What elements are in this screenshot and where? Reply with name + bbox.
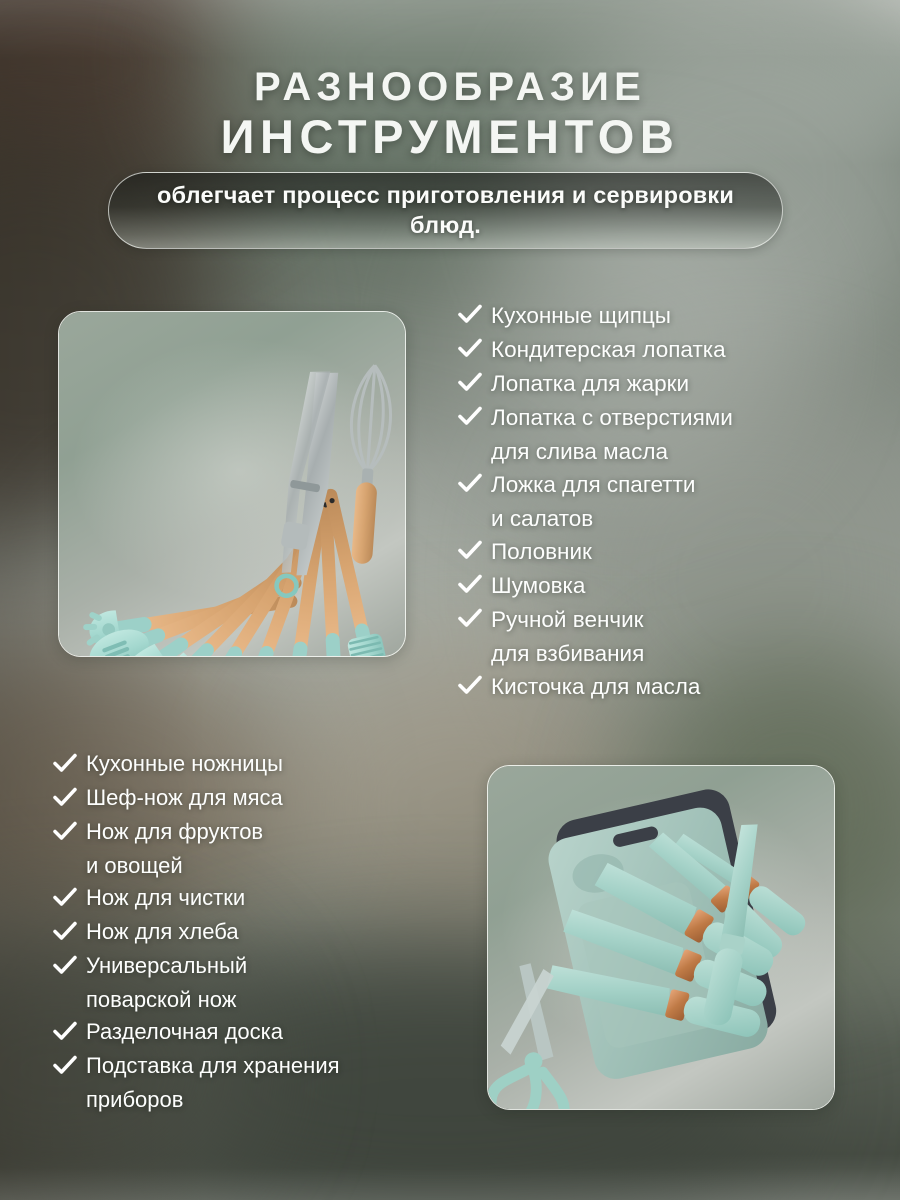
list-item-label: Подставка для хранения [86,1050,340,1082]
check-icon [457,571,483,601]
knife-set-illustration [488,766,834,1109]
list-item-label-line2: поварской нож [86,984,236,1016]
list-item-label: Разделочная доска [86,1016,283,1048]
list-item-continuation: и салатов [457,502,857,535]
list-item[interactable]: Разделочная доска [52,1016,452,1048]
list-item[interactable]: Шумовка [457,569,857,602]
check-icon [457,301,483,331]
list-item[interactable]: Универсальный [52,950,452,982]
list-item-label: Нож для чистки [86,882,245,914]
list-item-continuation: приборов [52,1084,452,1116]
check-icon [52,750,78,780]
check-icon [52,818,78,848]
list-item-label-line2: приборов [86,1084,183,1116]
title-line-1: РАЗНООБРАЗИЕ [0,67,900,109]
list-item-label: Половник [491,535,592,568]
list-item-label: Лопатка для жарки [491,367,689,400]
check-icon [457,403,483,433]
list-item[interactable]: Ручной венчик [457,603,857,636]
list-item-label: Универсальный [86,950,247,982]
check-icon [457,672,483,702]
check-icon [457,470,483,500]
list-item[interactable]: Лопатка с отверстиями [457,401,857,434]
subtitle-banner: облегчает процесс приготовления и сервир… [108,172,783,249]
list-item-label-line2: для взбивания [491,637,644,670]
list-item[interactable]: Нож для чистки [52,882,452,914]
check-icon [457,335,483,365]
check-icon [457,605,483,635]
check-icon [457,537,483,567]
list-item[interactable]: Половник [457,535,857,568]
title-line-2: ИНСТРУМЕНТОВ [0,113,900,162]
list-item-continuation: для слива масла [457,435,857,468]
utensil-set-photo-card [58,311,406,657]
check-icon [52,884,78,914]
list-item[interactable]: Кисточка для масла [457,670,857,703]
list-item-label-line2: и салатов [491,502,593,535]
utensil-set-illustration [59,312,405,656]
list-item-label: Лопатка с отверстиями [491,401,733,434]
list-item-label: Нож для фруктов [86,816,263,848]
list-item[interactable]: Кухонные щипцы [457,299,857,332]
list-item-label: Шумовка [491,569,585,602]
check-icon [52,952,78,982]
list-item-label: Кисточка для масла [491,670,700,703]
utensils-feature-list: Кухонные щипцы Кондитерская лопатка Лопа… [457,299,857,704]
list-item-label-line2: и овощей [86,850,183,882]
check-icon [52,784,78,814]
list-item[interactable]: Кондитерская лопатка [457,333,857,366]
list-item-label-line2: для слива масла [491,435,668,468]
list-item-label: Нож для хлеба [86,916,239,948]
list-item-continuation: поварской нож [52,984,452,1016]
list-item-label: Кухонные щипцы [491,299,671,332]
list-item-label: Кухонные ножницы [86,748,283,780]
list-item-label: Шеф-нож для мяса [86,782,283,814]
check-icon [52,1052,78,1082]
product-infographic-poster: РАЗНООБРАЗИЕ ИНСТРУМЕНТОВ облегчает проц… [0,0,900,1200]
list-item[interactable]: Нож для хлеба [52,916,452,948]
list-item-continuation: для взбивания [457,637,857,670]
check-icon [457,369,483,399]
list-item-label: Ложка для спагетти [491,468,695,501]
check-icon [52,918,78,948]
list-item-label: Ручной венчик [491,603,644,636]
list-item[interactable]: Ложка для спагетти [457,468,857,501]
list-item[interactable]: Лопатка для жарки [457,367,857,400]
knife-set-photo-card [487,765,835,1110]
list-item[interactable]: Подставка для хранения [52,1050,452,1082]
list-item[interactable]: Кухонные ножницы [52,748,452,780]
list-item[interactable]: Шеф-нож для мяса [52,782,452,814]
check-icon [52,1018,78,1048]
list-item-continuation: и овощей [52,850,452,882]
page-title: РАЗНООБРАЗИЕ ИНСТРУМЕНТОВ [0,67,900,161]
list-item-label: Кондитерская лопатка [491,333,726,366]
subtitle-text: облегчает процесс приготовления и сервир… [109,181,782,240]
list-item[interactable]: Нож для фруктов [52,816,452,848]
knives-feature-list: Кухонные ножницы Шеф-нож для мяса Нож дл… [52,748,452,1116]
